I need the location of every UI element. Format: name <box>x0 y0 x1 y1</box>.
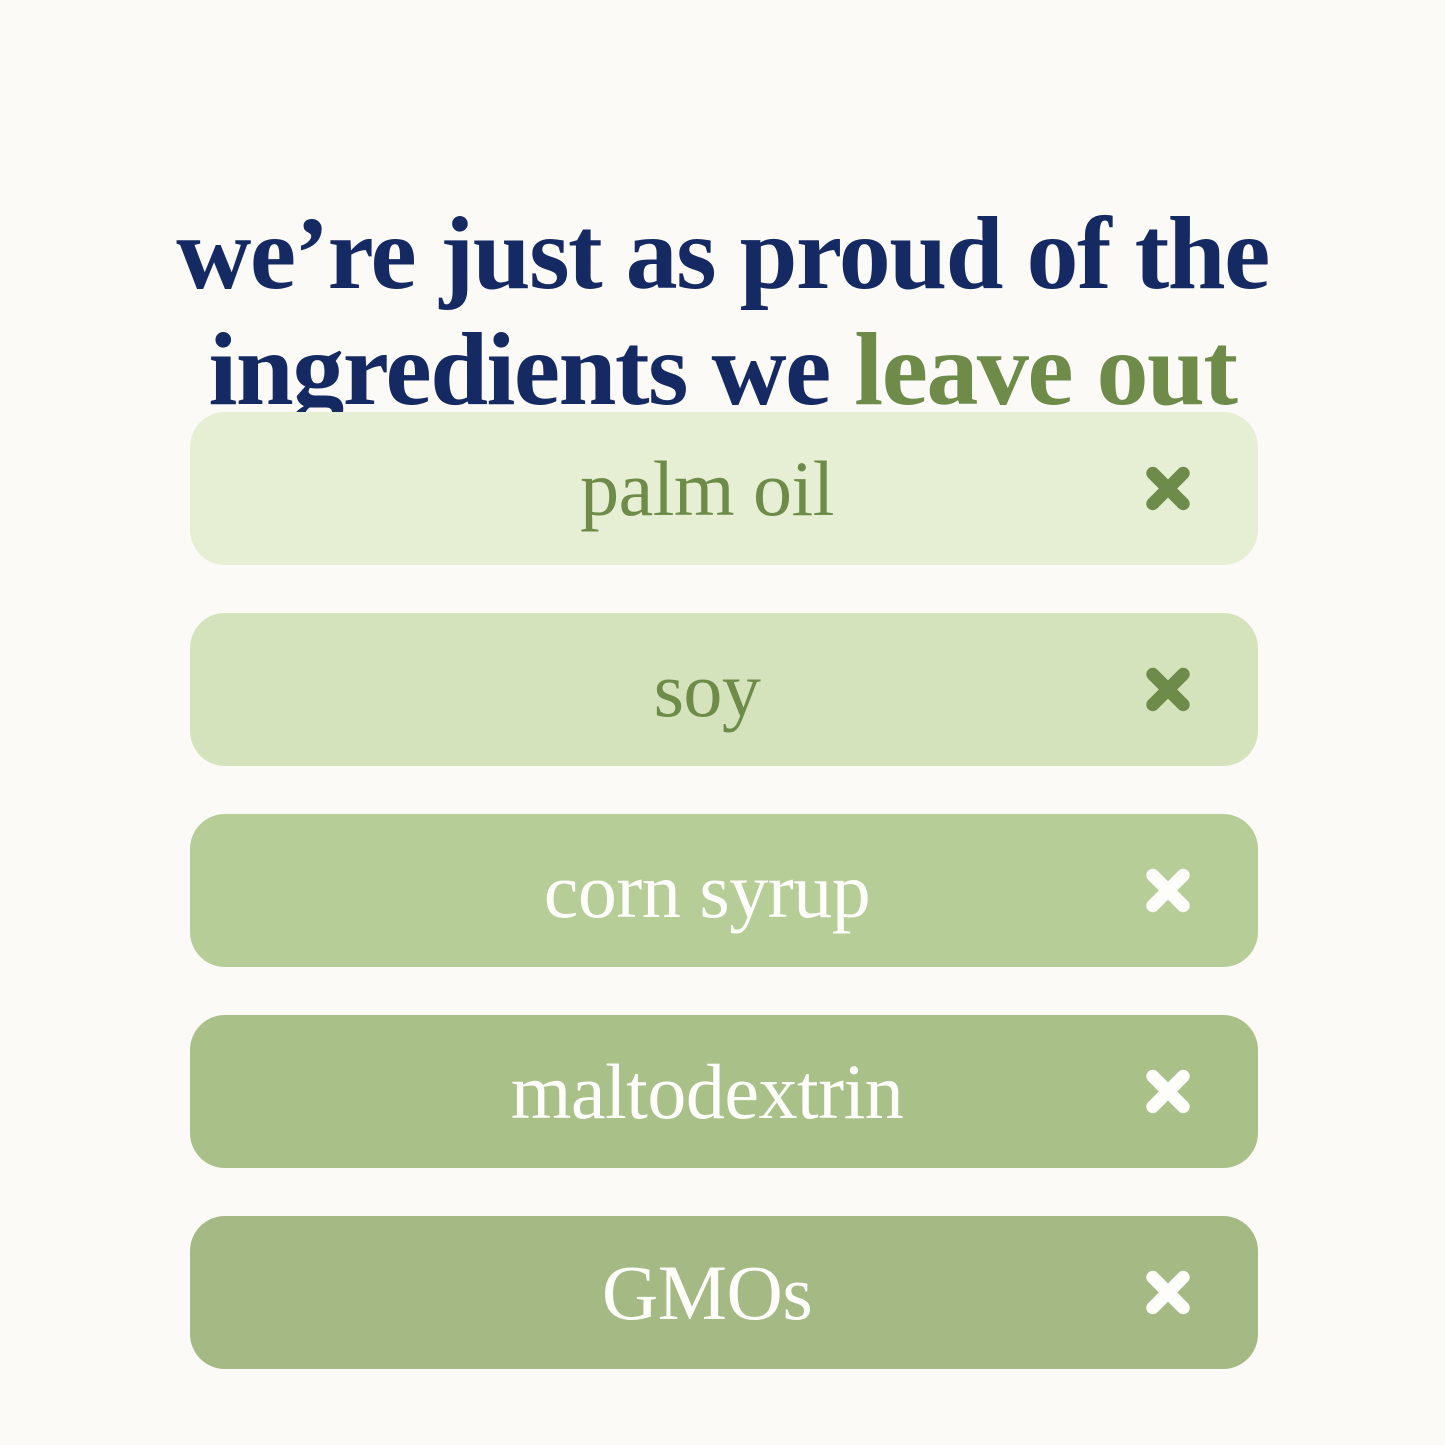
x-mark-icon <box>1140 1265 1196 1321</box>
ingredient-label: corn syrup <box>190 852 1258 930</box>
list-item[interactable]: GMOs <box>190 1216 1258 1369</box>
headline-line-1: we’re just as proud of the <box>58 196 1387 312</box>
ingredient-label: palm oil <box>190 450 1258 528</box>
x-mark-icon <box>1140 863 1196 919</box>
list-item[interactable]: corn syrup <box>190 814 1258 967</box>
list-item[interactable]: palm oil <box>190 412 1258 565</box>
list-item[interactable]: maltodextrin <box>190 1015 1258 1168</box>
page-title: we’re just as proud of the ingredients w… <box>0 196 1445 429</box>
x-mark-icon <box>1140 461 1196 517</box>
ingredient-label: maltodextrin <box>190 1053 1258 1131</box>
x-mark-icon <box>1140 662 1196 718</box>
ingredient-label: GMOs <box>190 1254 1258 1332</box>
marketing-graphic: we’re just as proud of the ingredients w… <box>0 0 1445 1445</box>
headline-accent-text: leave out <box>854 312 1236 427</box>
x-mark-icon <box>1140 1064 1196 1120</box>
ingredient-label: soy <box>190 651 1258 729</box>
list-item[interactable]: soy <box>190 613 1258 766</box>
headline-line-2-prefix: ingredients we <box>209 312 855 427</box>
excluded-ingredients-list: palm oil soy corn syrup maltodextrin GMO <box>190 412 1258 1369</box>
